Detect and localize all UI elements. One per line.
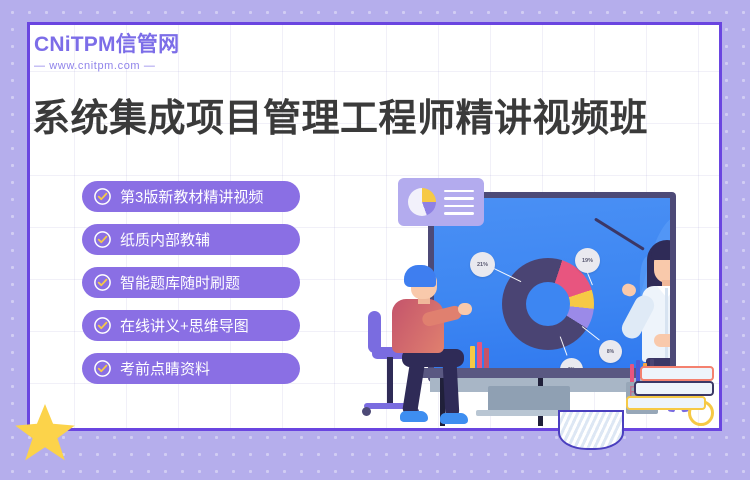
book: [640, 366, 714, 381]
list-item[interactable]: 在线讲义+思维导图: [82, 310, 300, 341]
book: [634, 381, 714, 396]
student-leg: [443, 361, 460, 418]
text-line: [444, 212, 474, 214]
banner-canvas: CNiTPM信管网 — www.cnitpm.com — 系统集成项目管理工程师…: [0, 0, 750, 480]
text-line: [444, 205, 474, 207]
pen: [630, 364, 634, 384]
list-item[interactable]: 考前点睛资料: [82, 353, 300, 384]
list-item-label: 纸质内部教辅: [120, 229, 210, 250]
list-item[interactable]: 纸质内部教辅: [82, 224, 300, 255]
list-item-label: 在线讲义+思维导图: [120, 315, 249, 336]
callout-leader-line: [582, 326, 600, 341]
list-item-label: 第3版新教材精讲视频: [120, 186, 263, 207]
bottom-backdrop-strip: [0, 431, 750, 480]
student-shoe: [400, 411, 428, 422]
pointer-stick-icon: [594, 217, 645, 250]
brand-logo[interactable]: CNiTPM信管网 — www.cnitpm.com —: [34, 34, 179, 72]
student-shoe: [440, 413, 468, 424]
check-circle-icon: [93, 187, 112, 206]
check-circle-icon: [93, 230, 112, 249]
teacher-left-hand: [620, 282, 637, 298]
logo-website-url: — www.cnitpm.com —: [34, 60, 179, 72]
chair-post: [387, 357, 393, 405]
widget-text-lines: [444, 190, 474, 215]
donut-chart: [502, 258, 594, 350]
student-hair: [404, 265, 436, 287]
check-circle-icon: [93, 359, 112, 378]
pie-chart-widget: [398, 178, 484, 226]
check-circle-icon: [93, 316, 112, 335]
chart-callout: 19%: [575, 248, 600, 273]
book-stack: [640, 366, 718, 418]
list-item-label: 考前点睛资料: [120, 358, 210, 379]
logo-wordmark: CNiTPM信管网: [34, 34, 179, 55]
text-line: [444, 197, 474, 199]
student-figure: [378, 265, 494, 430]
pie-chart-icon: [408, 188, 436, 216]
student-leg: [402, 360, 425, 416]
check-circle-icon: [93, 273, 112, 292]
student-hand: [458, 303, 472, 315]
chart-callout: 8%: [599, 340, 622, 363]
laptop: [488, 386, 570, 412]
student-shirt: [392, 299, 444, 353]
list-item[interactable]: 智能题库随时刷题: [82, 267, 300, 298]
teacher-hands: [654, 334, 670, 347]
teacher-figure: [630, 240, 670, 376]
list-item[interactable]: 第3版新教材精讲视频: [82, 181, 300, 212]
list-item-label: 智能题库随时刷题: [120, 272, 240, 293]
teacher-shirt-placket: [665, 288, 668, 360]
book: [626, 396, 706, 410]
feature-list: 第3版新教材精讲视频 纸质内部教辅 智能题库随时刷题 在线讲义+思维导图: [82, 181, 300, 384]
chair-wheel: [362, 407, 371, 416]
page-title: 系统集成项目管理工程师精讲视频班: [32, 98, 692, 141]
text-line: [444, 190, 474, 192]
